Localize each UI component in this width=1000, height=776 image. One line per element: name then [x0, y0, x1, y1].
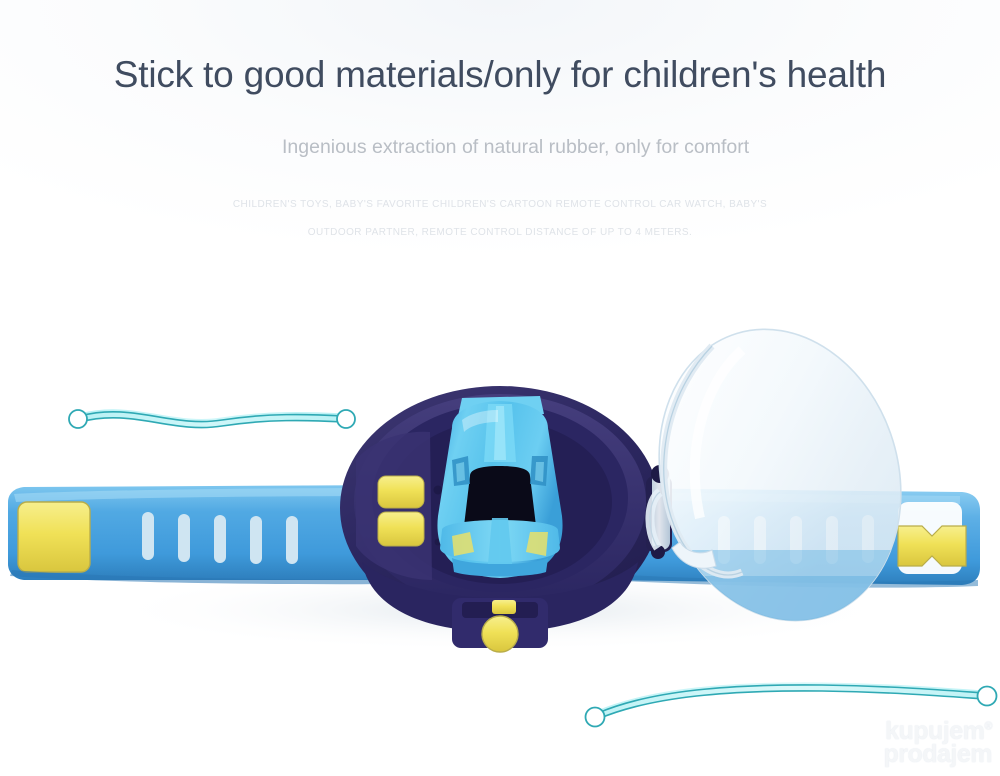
page-subtitle: Ingenious extraction of natural rubber, …: [282, 134, 782, 160]
watermark: kupujem® prodajem: [883, 720, 992, 766]
product-banner: Stick to good materials/only for childre…: [0, 0, 1000, 776]
caption-line-1: CHILDREN'S TOYS, BABY'S FAVORITE CHILDRE…: [0, 199, 1000, 210]
toy-race-car: [437, 396, 562, 578]
product-image: [0, 280, 1000, 680]
page-title: Stick to good materials/only for childre…: [0, 54, 1000, 96]
bottom-latch: [452, 598, 548, 652]
watermark-line-2: prodajem: [883, 743, 992, 766]
registered-mark-icon: ®: [984, 721, 992, 733]
caption-line-2: OUTDOOR PARTNER, REMOTE CONTROL DISTANCE…: [0, 227, 1000, 238]
bottom-round-button: [482, 616, 518, 652]
